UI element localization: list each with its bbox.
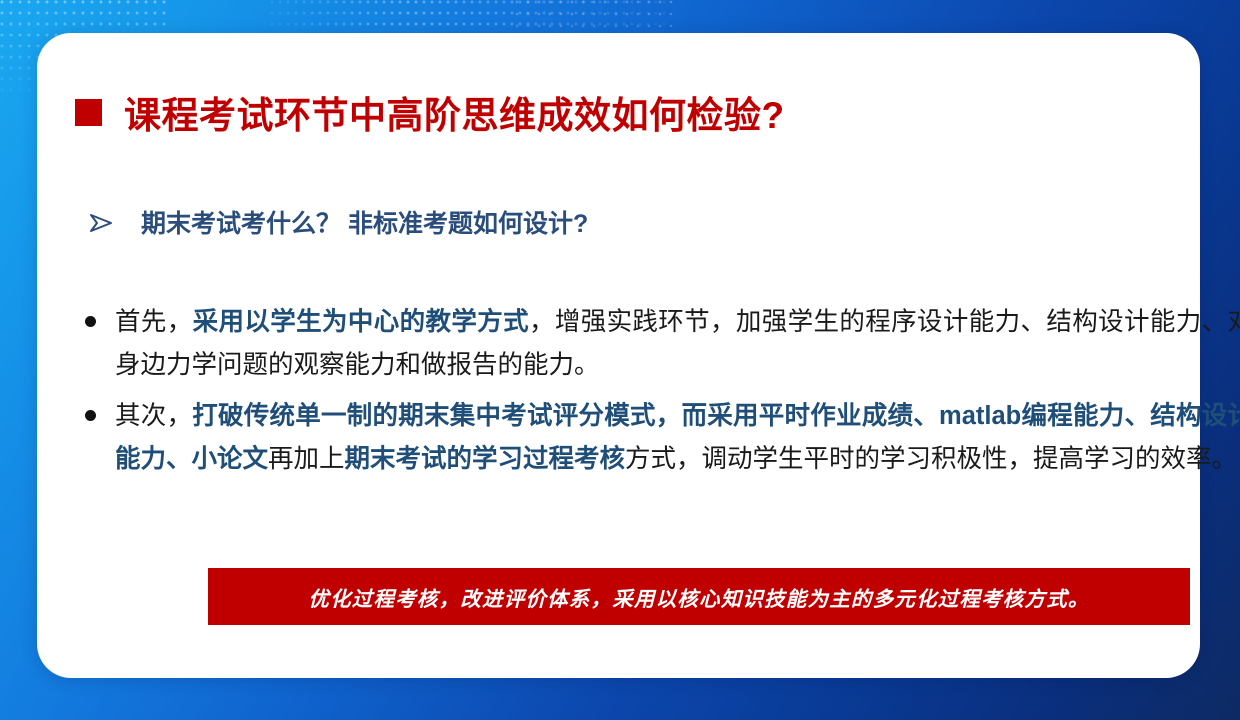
bullet-item: 首先，采用以学生为中心的教学方式，增强实践环节，加强学生的程序设计能力、结构设计… <box>85 301 1240 387</box>
slide-canvas: 课程考试环节中高阶思维成效如何检验? 期末考试考什么？ 非标准考题如何设计? 首… <box>0 0 1240 720</box>
page-title-text: 课程考试环节中高阶思维成效如何检验? <box>124 85 785 139</box>
bullet-dot-icon <box>85 316 96 327</box>
bullet-text: 其次，打破传统单一制的期末集中考试评分模式，而采用平时作业成绩、matlab编程… <box>115 395 1240 481</box>
bullet-emphasis-text: 采用以学生为中心的教学方式 <box>193 308 529 336</box>
subtitle: 期末考试考什么？ 非标准考题如何设计? <box>89 204 588 240</box>
bullet-item: 其次，打破传统单一制的期末集中考试评分模式，而采用平时作业成绩、matlab编程… <box>85 395 1240 481</box>
content-card: 课程考试环节中高阶思维成效如何检验? 期末考试考什么？ 非标准考题如何设计? 首… <box>37 33 1200 678</box>
bullet-emphasis-text: 期末考试的学习过程考核 <box>345 445 626 473</box>
page-title: 课程考试环节中高阶思维成效如何检验? <box>75 85 785 139</box>
bullet-text: 首先，采用以学生为中心的教学方式，增强实践环节，加强学生的程序设计能力、结构设计… <box>115 301 1240 387</box>
subtitle-text: 期末考试考什么？ 非标准考题如何设计? <box>141 204 588 240</box>
highlight-banner-text: 优化过程考核，改进评价体系，采用以核心知识技能为主的多元化过程考核方式。 <box>308 582 1089 612</box>
bullet-plain-text: 方式，调动学生平时的学习积极性，提高学习的效率。 <box>625 445 1237 473</box>
highlight-banner: 优化过程考核，改进评价体系，采用以核心知识技能为主的多元化过程考核方式。 <box>208 568 1190 625</box>
title-square-marker-icon <box>75 99 102 126</box>
arrow-right-icon <box>89 212 115 234</box>
bullet-list: 首先，采用以学生为中心的教学方式，增强实践环节，加强学生的程序设计能力、结构设计… <box>85 301 1240 489</box>
bullet-plain-text: 其次， <box>115 402 192 430</box>
bullet-dot-icon <box>85 410 96 421</box>
bullet-plain-text: 首先， <box>115 308 193 336</box>
bullet-plain-text: 再加上 <box>268 445 345 473</box>
card-inner: 课程考试环节中高阶思维成效如何检验? 期末考试考什么？ 非标准考题如何设计? 首… <box>37 33 1200 678</box>
